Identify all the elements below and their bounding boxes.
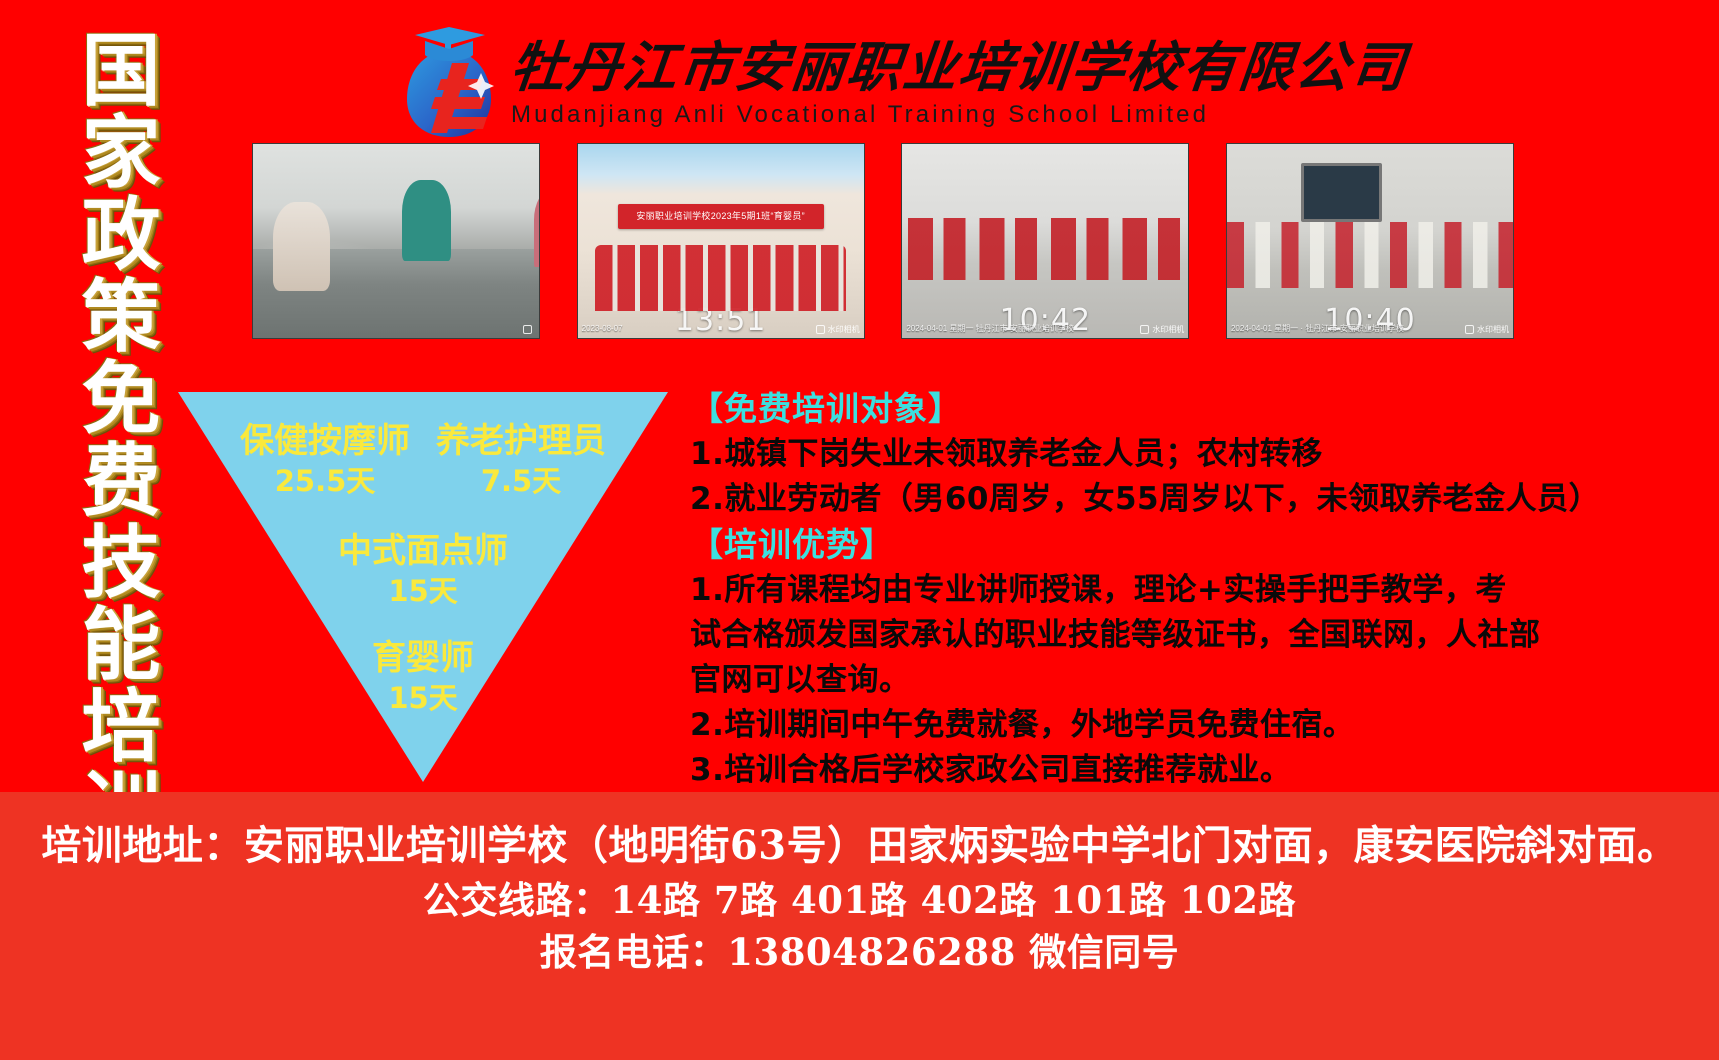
poster-root: 国 家 政 策 免 费 技 能 培 训 [0, 0, 1719, 1060]
photo-datestamp: 2024-04-01 星期一 · 牡丹江市·安丽职业培训学校 [1231, 324, 1404, 334]
photo-datestamp: 2023-08-07 [582, 324, 623, 334]
advantage-item: 2.培训期间中午免费就餐，外地学员免费住宿。 [690, 703, 1690, 748]
photo-pastry-class [252, 143, 540, 339]
watermark-label: 水印相机 [828, 325, 860, 334]
brand-header: 牡丹江市安丽职业培训学校有限公司 Mudanjiang Anli Vocatio… [395, 22, 1295, 144]
watermark-label: 水印相机 [1477, 325, 1509, 334]
course-item-pastry: 中式面点师 15天 [178, 530, 668, 610]
headline-char: 家 [82, 112, 161, 194]
headline-char: 费 [82, 440, 161, 522]
course-item-massage: 保健按摩师 25.5天 [240, 420, 410, 500]
photo-timestamp: 13:51 [675, 306, 766, 336]
photo-banner-text: 安丽职业培训学校2023年5期1班“育婴员” [618, 204, 824, 229]
advantage-item: 官网可以查询。 [690, 658, 1690, 703]
course-duration: 15天 [178, 572, 668, 610]
photo-strip: 安丽职业培训学校2023年5期1班“育婴员” 13:51 2023-08-07 … [252, 143, 1514, 339]
photo-watermark: 水印相机 [816, 325, 860, 334]
headline-char: 技 [82, 522, 161, 604]
eligibility-item: 1.城镇下岗失业未领取养老金人员；农村转移 [690, 432, 1690, 477]
photo-watermark: 水印相机 [1140, 325, 1184, 334]
camera-icon [523, 325, 532, 334]
advantage-item: 试合格颁发国家承认的职业技能等级证书，全国联网，人社部 [690, 613, 1690, 658]
course-duration: 25.5天 [275, 462, 376, 500]
course-item-eldercare: 养老护理员 7.5天 [436, 420, 606, 500]
headline-char: 策 [82, 276, 161, 358]
course-item-childcare: 育婴师 15天 [178, 637, 668, 717]
vertical-headline: 国 家 政 策 免 费 技 能 培 训 [62, 30, 180, 770]
eligibility-item: 2.就业劳动者（男60周岁，女55周岁以下，未领取养老金人员） [690, 477, 1690, 522]
watermark-label: 水印相机 [1152, 325, 1184, 334]
headline-char: 能 [82, 604, 161, 686]
headline-char: 国 [82, 30, 161, 112]
course-name: 育婴师 [178, 637, 668, 679]
footer-phone: 报名电话：13804826288 微信同号 [0, 926, 1719, 978]
photo-classroom-lecture: 10:40 2024-04-01 星期一 · 牡丹江市·安丽职业培训学校 水印相… [1226, 143, 1514, 339]
photo-watermark [523, 325, 535, 334]
advantage-item: 1.所有课程均由专业讲师授课，理论+实操手把手教学，考 [690, 568, 1690, 613]
school-logo-icon [395, 27, 503, 139]
triangle-content: 保健按摩师 25.5天 养老护理员 7.5天 中式面点师 15天 育婴师 15天 [178, 392, 668, 782]
footer-address: 培训地址：安丽职业培训学校（地明街63号）田家炳实验中学北门对面，康安医院斜对面… [0, 818, 1719, 874]
photo-group-2023: 安丽职业培训学校2023年5期1班“育婴员” 13:51 2023-08-07 … [577, 143, 865, 339]
headline-char: 培 [82, 686, 161, 768]
brand-text: 牡丹江市安丽职业培训学校有限公司 Mudanjiang Anli Vocatio… [511, 36, 1407, 130]
course-duration: 7.5天 [481, 462, 561, 500]
photo-datestamp: 2024-04-01 星期一 牡丹江市 安丽职业培训学校 [906, 324, 1074, 334]
headline-char: 免 [82, 358, 161, 440]
info-column: 【免费培训对象】 1.城镇下岗失业未领取养老金人员；农村转移 2.就业劳动者（男… [690, 386, 1690, 793]
section-heading-advantages: 【培训优势】 [690, 522, 1690, 568]
course-name: 养老护理员 [436, 420, 606, 462]
course-name: 保健按摩师 [240, 420, 410, 462]
course-duration: 15天 [178, 679, 668, 717]
course-name: 中式面点师 [178, 530, 668, 572]
course-row-top: 保健按摩师 25.5天 养老护理员 7.5天 [178, 420, 668, 500]
section-heading-eligibility: 【免费培训对象】 [690, 386, 1690, 432]
school-name-en: Mudanjiang Anli Vocational Training Scho… [511, 100, 1407, 130]
school-name-cn: 牡丹江市安丽职业培训学校有限公司 [508, 36, 1411, 98]
advantage-item: 3.培训合格后学校家政公司直接推荐就业。 [690, 748, 1690, 793]
contact-footer: 培训地址：安丽职业培训学校（地明街63号）田家炳实验中学北门对面，康安医院斜对面… [0, 792, 1719, 1060]
course-triangle: 保健按摩师 25.5天 养老护理员 7.5天 中式面点师 15天 育婴师 15天 [178, 392, 668, 782]
headline-char: 政 [82, 194, 161, 276]
photo-nursing-practice: 10:42 2024-04-01 星期一 牡丹江市 安丽职业培训学校 水印相机 [901, 143, 1189, 339]
camera-icon [1465, 325, 1474, 334]
photo-watermark: 水印相机 [1465, 325, 1509, 334]
camera-icon [1140, 325, 1149, 334]
footer-bus-routes: 公交线路：14路 7路 401路 402路 101路 102路 [0, 874, 1719, 926]
camera-icon [816, 325, 825, 334]
